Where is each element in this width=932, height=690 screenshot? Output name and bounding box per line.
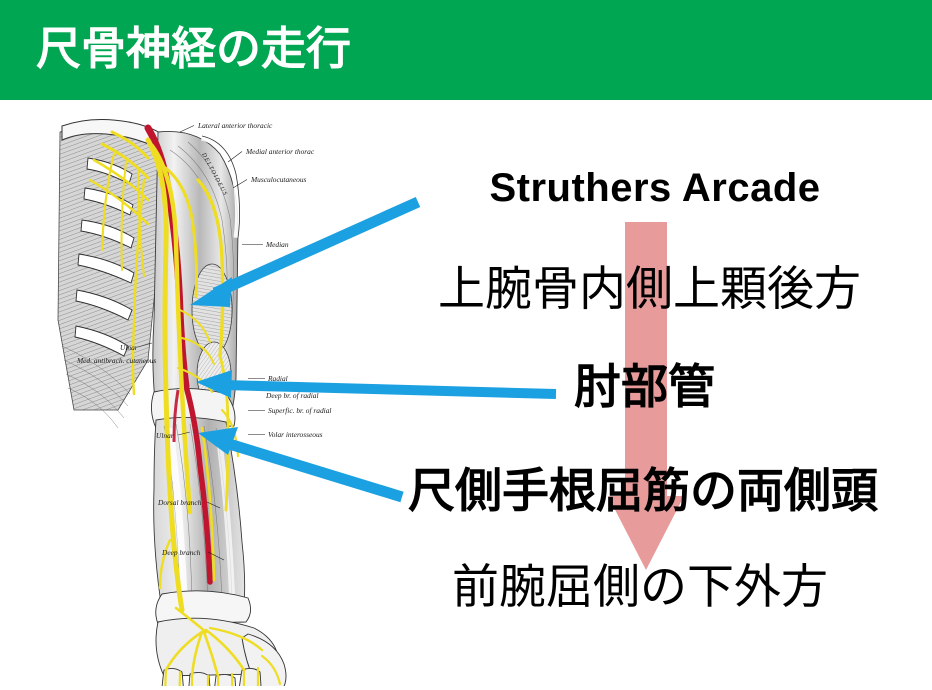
label-forearm-flexor-distal-lateral: 前腕屈側の下外方 bbox=[452, 563, 828, 610]
svg-text:Medial anterior thorac: Medial anterior thorac bbox=[245, 147, 315, 156]
svg-text:Ulnar: Ulnar bbox=[156, 431, 174, 440]
svg-text:Superfic. br. of radial: Superfic. br. of radial bbox=[268, 406, 331, 415]
svg-text:Radial: Radial bbox=[267, 374, 288, 383]
svg-text:Med. antibrach. cutaneous: Med. antibrach. cutaneous bbox=[76, 356, 156, 365]
svg-text:Deep br. of radial: Deep br. of radial bbox=[265, 391, 319, 400]
svg-text:Median: Median bbox=[265, 240, 289, 249]
label-fcu-two-heads: 尺側手根屈筋の両側頭 bbox=[408, 467, 878, 514]
svg-text:Deep branch: Deep branch bbox=[161, 548, 201, 557]
label-medial-epicondyle: 上腕骨内側上顆後方 bbox=[438, 265, 861, 312]
page-title: 尺骨神経の走行 bbox=[36, 14, 351, 84]
slide-root: 尺骨神経の走行 bbox=[0, 0, 932, 690]
svg-text:Volar interosseous: Volar interosseous bbox=[268, 430, 323, 439]
svg-text:Ulnar: Ulnar bbox=[120, 343, 138, 352]
label-struthers-arcade-text: Struthers Arcade bbox=[489, 168, 820, 208]
label-cubital-tunnel: 肘部管 bbox=[574, 363, 715, 410]
label-struthers-arcade: Struthers Arcade bbox=[0, 168, 932, 208]
svg-text:Dorsal branch: Dorsal branch bbox=[157, 498, 202, 507]
svg-text:Lateral anterior thoracic: Lateral anterior thoracic bbox=[197, 121, 273, 130]
